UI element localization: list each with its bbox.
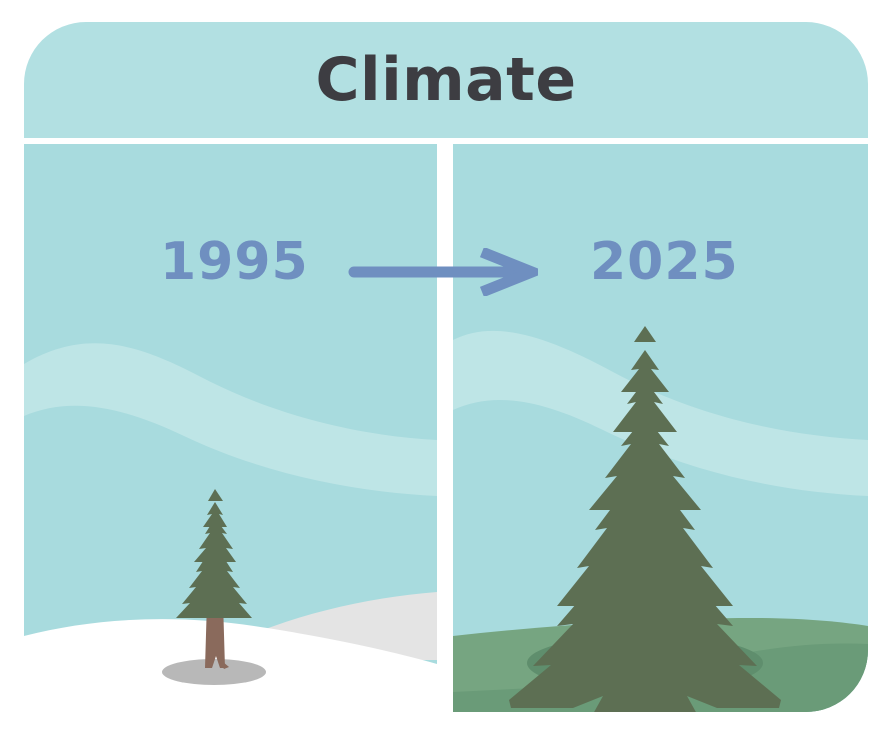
year-label-2025: 2025 bbox=[590, 236, 790, 288]
panel-1995 bbox=[24, 144, 437, 712]
tree-shadow-small bbox=[162, 659, 266, 685]
climate-comparison-graphic: Climate bbox=[0, 0, 892, 731]
year-label-1995: 1995 bbox=[160, 236, 340, 288]
scene-2025 bbox=[453, 144, 868, 712]
header-band: Climate bbox=[24, 22, 868, 138]
page-title: Climate bbox=[315, 50, 576, 110]
transition-arrow bbox=[346, 248, 538, 296]
panel-2025 bbox=[453, 144, 868, 712]
scene-1995 bbox=[24, 144, 437, 712]
arrow-right-icon bbox=[346, 248, 538, 296]
